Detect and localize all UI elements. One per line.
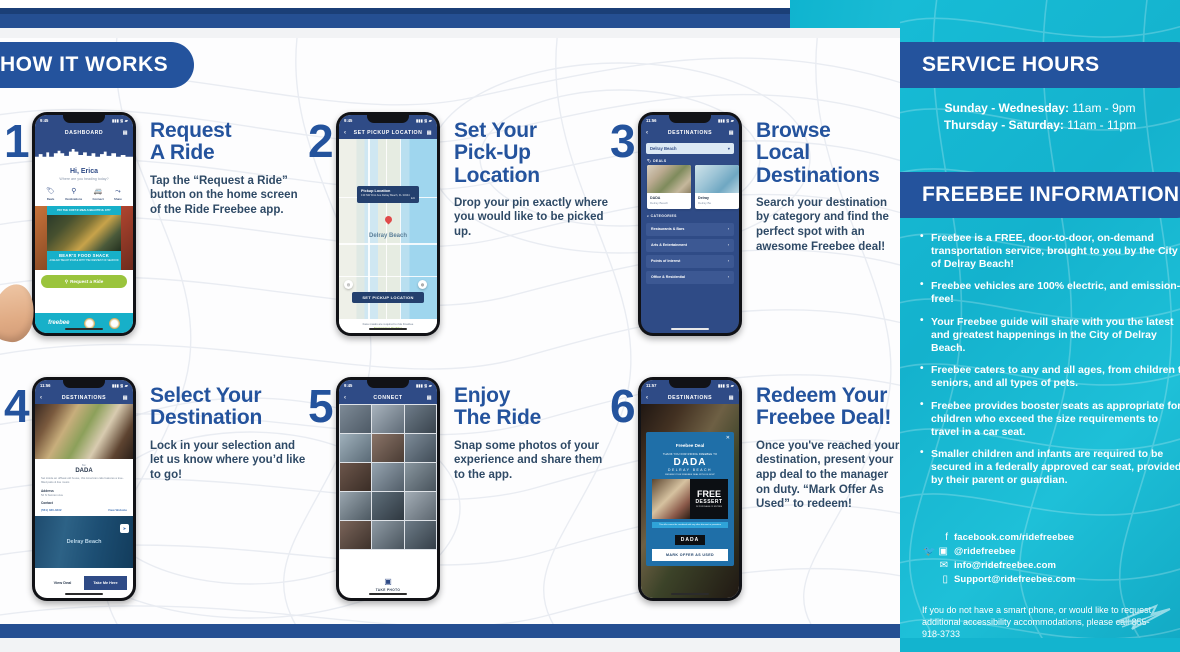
step-1-title: Request A Ride (150, 120, 310, 165)
category-item[interactable]: Points of Interest › (646, 255, 734, 268)
address-block: Address 52 N Swinton Ave (41, 489, 127, 498)
step-1-phone-mockup: 9:45 ▮▮▮ ᯾ ▰ DASHBOARD ▤ (32, 112, 136, 336)
pickup-card-edit[interactable]: Edit (361, 197, 415, 200)
take-photo-button[interactable]: ▣ TAKE PHOTO (339, 577, 437, 592)
deals-icon: 🏷 (647, 159, 652, 163)
info-bullet: Freebee vehicles are 100% electric, and … (920, 280, 1180, 306)
step-5-text: Enjoy The Ride Snap some photos of your … (454, 377, 614, 601)
quick-action-label: Share (114, 197, 122, 201)
info-bullet: Freebee provides booster seats as approp… (920, 400, 1180, 438)
category-item[interactable]: Arts & Entertainment › (646, 239, 734, 252)
photo-tile[interactable] (340, 492, 371, 520)
quick-action-share[interactable]: ⤳ Share (114, 188, 122, 201)
step-2-text: Set Your Pick-Up Location Drop your pin … (454, 112, 614, 336)
menu-icon[interactable]: ▤ (427, 395, 432, 401)
photo-tile[interactable] (372, 463, 403, 491)
website-link[interactable]: View Website (108, 508, 127, 512)
promo-card-active[interactable]: PAY THE COST IF MEALS BEAUTIFUL CITY BEA… (47, 206, 121, 270)
partner-seal-icon (109, 318, 120, 329)
map-city-label: Delray Beach (67, 540, 102, 546)
promo-banner-bottom: BEAR'S FOOD SHACK A DELRAY BEACH STAPLE … (47, 251, 121, 270)
phone-nav-bar: ‹ DESTINATIONS ▤ (35, 391, 133, 404)
service-hours-header: SERVICE HOURS (900, 42, 1180, 88)
map-city-label: Delray Beach (369, 233, 407, 239)
step-5: 5 9:45 ▮▮▮ ᯾ ▰ ‹ CONNECT ▤ (308, 377, 614, 601)
nav-title: DESTINATIONS (62, 395, 106, 401)
city-filter-value: Delray Beach (650, 146, 677, 151)
twitter-instagram-icons: 🐦▣ (922, 547, 948, 557)
menu-icon[interactable]: ▤ (729, 130, 734, 136)
deal-card[interactable]: Delray Delray Be (695, 165, 739, 209)
step-4-number: 4 (4, 383, 32, 601)
contact-label: Contact (41, 501, 127, 505)
step-4: 4 11:56 ▮▮▮ ᯾ ▰ ‹ DESTINATIONS ▤ (4, 377, 310, 601)
step-5-title: Enjoy The Ride (454, 385, 614, 430)
pickup-card-title: Pickup Location (361, 189, 415, 193)
skyline-graphic (35, 139, 133, 161)
service-hours-days: Thursday - Saturday: (944, 118, 1064, 132)
modal-tagline: REDEEM YOUR FREEBEE DEAL WITH US NOW! (652, 474, 728, 476)
locate-me-icon[interactable]: ◎ (344, 280, 353, 289)
service-hours-title: SERVICE HOURS (922, 53, 1099, 77)
address-label: Address (41, 489, 127, 493)
phone-notch (367, 380, 409, 388)
service-hours-row: Sunday - Wednesday: 11am - 9pm (900, 100, 1180, 117)
phone-nav-bar: ‹ SET PICKUP LOCATION ▤ (339, 126, 437, 139)
phone-notch (63, 380, 105, 388)
phone-home-indicator (671, 328, 709, 330)
phone-nav-bar: ‹ DESTINATIONS ▤ (641, 391, 739, 404)
offer-text-block: FREE DESSERT W/ PURCHASE OF ENTREE (690, 479, 728, 519)
greeting-subtitle: Where are you heading today? (35, 177, 133, 181)
photo-tile[interactable] (340, 434, 371, 462)
request-a-ride-button[interactable]: ⚲ Request a Ride (41, 275, 127, 288)
step-3-phone-mockup: 11:56 ▮▮▮ ᯾ ▰ ‹ DESTINATIONS ▤ Delray Be… (638, 112, 742, 336)
category-label: Office & Residential (651, 275, 685, 279)
modal-subtitle: THANK YOU FOR RIDING FREEBEE TO (652, 453, 728, 456)
steps-container: 1 9:45 ▮▮▮ ᯾ ▰ DASHBOARD ▤ (0, 0, 900, 652)
step-2: 2 9:45 ▮▮▮ ᯾ ▰ ‹ SET PICKUP LOCATION ▤ (308, 112, 614, 336)
step-2-description: Drop your pin exactly where you would li… (454, 196, 614, 240)
status-time: 9:45 (344, 383, 352, 388)
info-sidebar: SERVICE HOURS Sunday - Wednesday: 11am -… (900, 0, 1180, 652)
promo-carousel[interactable]: PAY THE COST IF MEALS BEAUTIFUL CITY BEA… (35, 206, 133, 270)
info-bullet: Your Freebee guide will share with you t… (920, 316, 1180, 354)
photo-tile[interactable] (405, 492, 436, 520)
deal-image (695, 165, 739, 193)
quick-action-deals[interactable]: 🏷 Deals (46, 188, 55, 201)
deal-image (647, 165, 691, 193)
modal-venue-city: DELRAY BEACH (652, 468, 728, 472)
promo-subtitle: A DELRAY BEACH STAPLE WITH THE FRESHEST … (47, 260, 121, 263)
back-icon[interactable]: ‹ (344, 130, 347, 136)
step-4-title: Select Your Destination (150, 385, 310, 430)
step-6: 6 11:57 ▮▮▮ ᯾ ▰ ‹ DESTINATIONS ▤ (610, 377, 900, 601)
offer-line-3: W/ PURCHASE OF ENTREE (696, 506, 722, 508)
service-hours-times: 11am - 11pm (1064, 118, 1136, 132)
promo-title: BEAR'S FOOD SHACK (47, 253, 121, 258)
phone-link[interactable]: (561) 330-3232 (41, 508, 62, 512)
category-label: Arts & Entertainment (651, 243, 687, 247)
destination-name: DADA (41, 468, 127, 474)
contact-text: Support@ridefreebee.com (954, 574, 1075, 585)
deal-card[interactable]: DADA Delray Beach (647, 165, 691, 209)
set-pickup-location-button[interactable]: SET PICKUP LOCATION (352, 292, 424, 303)
navigate-icon[interactable]: ➤ (120, 524, 129, 533)
freebee-information-bullets: Freebee is a FREE, door-to-door, on-dema… (920, 232, 1180, 497)
menu-icon[interactable]: ▤ (123, 395, 128, 401)
back-icon[interactable]: ‹ (646, 130, 649, 136)
take-photo-label: TAKE PHOTO (339, 588, 437, 592)
modal-fine-print: This offer cannot be combined with any o… (652, 522, 728, 528)
step-2-number: 2 (308, 118, 336, 336)
deal-name: DADA (650, 196, 688, 200)
chevron-down-icon: ▾ (728, 146, 730, 151)
phone-home-indicator (369, 593, 407, 595)
layers-icon[interactable]: ◍ (418, 280, 427, 289)
photo-tile[interactable] (372, 434, 403, 462)
back-icon[interactable]: ‹ (646, 395, 649, 401)
offer-line-2: DESSERT (695, 499, 722, 505)
offer-image: FREE DESSERT W/ PURCHASE OF ENTREE (652, 479, 728, 519)
category-item[interactable]: Office & Residential › (646, 271, 734, 284)
nav-title: DESTINATIONS (668, 130, 712, 136)
greeting-block: Hi, Erica Where are you heading today? (35, 161, 133, 184)
step-6-number: 6 (610, 383, 638, 601)
take-me-here-button[interactable]: Take Me Here (84, 576, 127, 590)
step-1-text: Request A Ride Tap the “Request a Ride” … (150, 112, 310, 336)
menu-icon[interactable]: ▤ (123, 130, 128, 136)
phone-nav-bar: ‹ CONNECT ▤ (339, 391, 437, 404)
phone-notch (669, 115, 711, 123)
step-3-text: Browse Local Destinations Search your de… (756, 112, 900, 336)
step-1-description: Tap the “Request a Ride” button on the h… (150, 174, 310, 218)
contact-row-email[interactable]: ✉ info@ridefreebee.com (922, 560, 1172, 571)
phone-nav-bar: ‹ DESTINATIONS ▤ (641, 126, 739, 139)
category-label: Points of Interest (651, 259, 680, 263)
categories-list: Restaurants & Bars › Arts & Entertainmen… (641, 220, 739, 284)
status-time: 11:56 (646, 118, 656, 123)
quick-action-connect[interactable]: 🚐 Connect (93, 188, 104, 201)
how-it-works-header: HOW IT WORKS (0, 42, 194, 88)
deal-name: Delray (698, 196, 736, 200)
facebook-icon: f (922, 533, 948, 543)
step-4-description: Lock in your selection and let us know w… (150, 439, 310, 483)
step-5-phone-mockup: 9:45 ▮▮▮ ᯾ ▰ ‹ CONNECT ▤ (336, 377, 440, 601)
instagram-icon: ▣ (939, 547, 948, 557)
categories-section-label: ⌕ CATEGORIES (641, 213, 739, 220)
contact-block: Contact (41, 501, 127, 505)
quick-action-destinations[interactable]: ⚲ Destinations (65, 188, 82, 201)
contact-row-facebook[interactable]: f facebook.com/ridefreebee (922, 532, 1172, 543)
service-hours-days: Sunday - Wednesday: (945, 101, 1069, 115)
nav-title: CONNECT (373, 395, 402, 401)
pin-icon: ⚲ (65, 188, 82, 195)
car-icon: 🚐 (93, 188, 104, 195)
photo-tile[interactable] (372, 521, 403, 549)
photo-tile[interactable] (340, 405, 371, 433)
chevron-right-icon: › (728, 275, 729, 279)
phone-home-indicator (65, 328, 103, 330)
freebee-information-header: FREEBEE INFORMATION (900, 172, 1180, 218)
categories-label-text: CATEGORIES (651, 214, 677, 218)
photo-tile[interactable] (405, 434, 436, 462)
step-5-description: Snap some photos of your experience and … (454, 439, 614, 483)
step-6-description: Once you've reached your destination, pr… (756, 439, 900, 513)
step-6-text: Redeem Your Freebee Deal! Once you've re… (756, 377, 900, 601)
step-3-number: 3 (610, 118, 638, 336)
address-value: 52 N Swinton Ave (41, 493, 127, 497)
step-5-number: 5 (308, 383, 336, 601)
phone-notch (367, 115, 409, 123)
camera-icon: ▣ (339, 577, 437, 586)
step-2-phone-mockup: 9:45 ▮▮▮ ᯾ ▰ ‹ SET PICKUP LOCATION ▤ (336, 112, 440, 336)
photo-tile[interactable] (405, 463, 436, 491)
destination-map[interactable]: Delray Beach ➤ (35, 516, 133, 568)
status-icons: ▮▮▮ ᯾ ▰ (112, 118, 128, 124)
quick-action-label: Connect (93, 197, 104, 201)
offer-photo (652, 479, 690, 519)
service-hours-times: 11am - 9pm (1069, 101, 1135, 115)
destination-hero-image (35, 404, 133, 459)
freebee-logo: freebee (48, 320, 69, 326)
greeting-name: Hi, Erica (35, 168, 133, 175)
info-bullet: Smaller children and infants are require… (920, 448, 1180, 486)
contact-links: (561) 330-3232 View Website (41, 508, 127, 512)
status-icons: ▮▮▮ ᯾ ▰ (416, 383, 432, 389)
contact-text: info@ridefreebee.com (954, 560, 1056, 571)
pickup-location-card[interactable]: Pickup Location 133 NW First Ave Delray … (357, 186, 419, 203)
quick-action-label: Deals (46, 197, 55, 201)
deal-city: Delray Beach (650, 201, 688, 205)
status-time: 11:57 (646, 383, 656, 388)
status-icons: ▮▮▮ ᯾ ▰ (416, 118, 432, 124)
phone-home-indicator (65, 593, 103, 595)
freebee-deal-modal: ✕ Freebee Deal THANK YOU FOR RIDING FREE… (646, 432, 734, 566)
sidebar-bottom-strip (900, 638, 1180, 652)
nav-title: SET PICKUP LOCATION (354, 130, 423, 136)
modal-title: Freebee Deal (652, 443, 728, 448)
modal-venue-logo: DADA (675, 535, 705, 545)
destination-actions: View Deal Take Me Here (35, 576, 133, 590)
city-seal-icon (84, 318, 95, 329)
quick-action-label: Destinations (65, 197, 82, 201)
photo-tile[interactable] (372, 492, 403, 520)
info-bullet: Freebee caters to any and all ages, from… (920, 364, 1180, 390)
photo-tile[interactable] (340, 521, 371, 549)
menu-icon[interactable]: ▤ (427, 130, 432, 136)
tag-icon: 🏷 (46, 188, 55, 195)
deal-city: Delray Be (698, 201, 736, 205)
status-icons: ▮▮▮ ᯾ ▰ (718, 118, 734, 124)
step-2-title: Set Your Pick-Up Location (454, 120, 614, 187)
service-hours-list: Sunday - Wednesday: 11am - 9pm Thursday … (900, 100, 1180, 135)
back-icon[interactable]: ‹ (344, 395, 347, 401)
step-4-text: Select Your Destination Lock in your sel… (150, 377, 310, 601)
phone-home-indicator (671, 593, 709, 595)
view-deal-button[interactable]: View Deal (41, 576, 84, 590)
step-4-phone-mockup: 11:56 ▮▮▮ ᯾ ▰ ‹ DESTINATIONS ▤ Bar DADA (32, 377, 136, 601)
category-item[interactable]: Restaurants & Bars › (646, 223, 734, 236)
contact-text: @ridefreebee (954, 546, 1016, 557)
status-icons: ▮▮▮ ᯾ ▰ (112, 383, 128, 389)
info-bullet: Freebee is a FREE, door-to-door, on-dema… (920, 232, 1180, 270)
photo-tile[interactable] (340, 463, 371, 491)
pin-icon: ⚲ (65, 279, 68, 285)
step-6-phone-mockup: 11:57 ▮▮▮ ᯾ ▰ ‹ DESTINATIONS ▤ ✕ Freebee… (638, 377, 742, 601)
quick-actions-row: 🏷 Deals ⚲ Destinations 🚐 Connect (35, 184, 133, 206)
promo-banner-top: PAY THE COST IF MEALS BEAUTIFUL CITY (47, 206, 121, 215)
status-time: 9:45 (344, 118, 352, 123)
step-3-title: Browse Local Destinations (756, 120, 900, 187)
deals-carousel[interactable]: DADA Delray Beach Delray Delray Be (641, 165, 739, 209)
close-icon[interactable]: ✕ (726, 435, 730, 441)
phone-home-indicator (369, 328, 407, 330)
promo-card-prev[interactable] (35, 206, 47, 270)
request-a-ride-label: Request a Ride (70, 279, 103, 284)
how-it-works-label: HOW IT WORKS (0, 53, 168, 77)
category-label: Restaurants & Bars (651, 227, 684, 231)
filter-icon: ⌕ (647, 214, 649, 218)
contact-row-social[interactable]: 🐦▣ @ridefreebee (922, 546, 1172, 557)
deals-section-label: 🏷 DEALS (641, 158, 739, 165)
page-root: HOW IT WORKS 1 9:45 ▮▮▮ ᯾ ▰ DASHBOARD (0, 0, 1180, 652)
phone-notch (669, 380, 711, 388)
nav-title: DASHBOARD (65, 130, 103, 136)
phone-notch (63, 115, 105, 123)
step-6-title: Redeem Your Freebee Deal! (756, 385, 900, 430)
offer-line-1: FREE (697, 490, 721, 498)
phone-icon: ▯ (922, 575, 948, 585)
deals-label-text: DEALS (653, 159, 667, 163)
app-footer-bar: freebee (35, 313, 133, 333)
service-hours-row: Thursday - Saturday: 11am - 11pm (900, 117, 1180, 134)
freebee-wing-logo-icon (1112, 600, 1174, 634)
promo-card-next[interactable] (121, 206, 133, 270)
mark-offer-as-used-button[interactable]: MARK OFFER AS USED (652, 549, 728, 561)
contact-text: facebook.com/ridefreebee (954, 532, 1074, 543)
status-icons: ▮▮▮ ᯾ ▰ (718, 383, 734, 389)
status-time: 9:45 (40, 118, 48, 123)
step-3: 3 11:56 ▮▮▮ ᯾ ▰ ‹ DESTINATIONS ▤ (610, 112, 900, 336)
photo-tile[interactable] (405, 405, 436, 433)
step-3-description: Search your destination by category and … (756, 196, 900, 255)
pickup-map[interactable]: Pickup Location 133 NW First Ave Delray … (339, 139, 437, 319)
photo-tile[interactable] (372, 405, 403, 433)
modal-venue-name: DADA (652, 457, 728, 468)
contact-row-support[interactable]: ▯ Support@ridefreebee.com (922, 574, 1172, 585)
share-icon: ⤳ (114, 188, 122, 195)
step-1: 1 9:45 ▮▮▮ ᯾ ▰ DASHBOARD ▤ (4, 112, 310, 336)
contact-list: f facebook.com/ridefreebee 🐦▣ @ridefreeb… (922, 532, 1172, 588)
freebee-information-title: FREEBEE INFORMATION (922, 183, 1179, 207)
email-icon: ✉ (922, 561, 948, 571)
destination-description: Set inside an offbeat old house, this Am… (41, 477, 127, 485)
nav-title: DESTINATIONS (668, 395, 712, 401)
promo-image (47, 215, 121, 251)
destination-details: Bar DADA Set inside an offbeat old house… (35, 459, 133, 512)
chevron-right-icon: › (728, 227, 729, 231)
status-time: 11:56 (40, 383, 50, 388)
city-filter-dropdown[interactable]: Delray Beach ▾ (646, 143, 734, 154)
phone-nav-bar: DASHBOARD ▤ (35, 126, 133, 139)
menu-icon[interactable]: ▤ (729, 395, 734, 401)
back-icon[interactable]: ‹ (40, 395, 43, 401)
mask-disclaimer: Face masks are required to ride Freebee … (339, 319, 437, 333)
connect-photo-grid[interactable] (339, 404, 437, 550)
chevron-right-icon: › (728, 259, 729, 263)
chevron-right-icon: › (728, 243, 729, 247)
photo-tile[interactable] (405, 521, 436, 549)
destination-category: Bar (41, 463, 127, 467)
